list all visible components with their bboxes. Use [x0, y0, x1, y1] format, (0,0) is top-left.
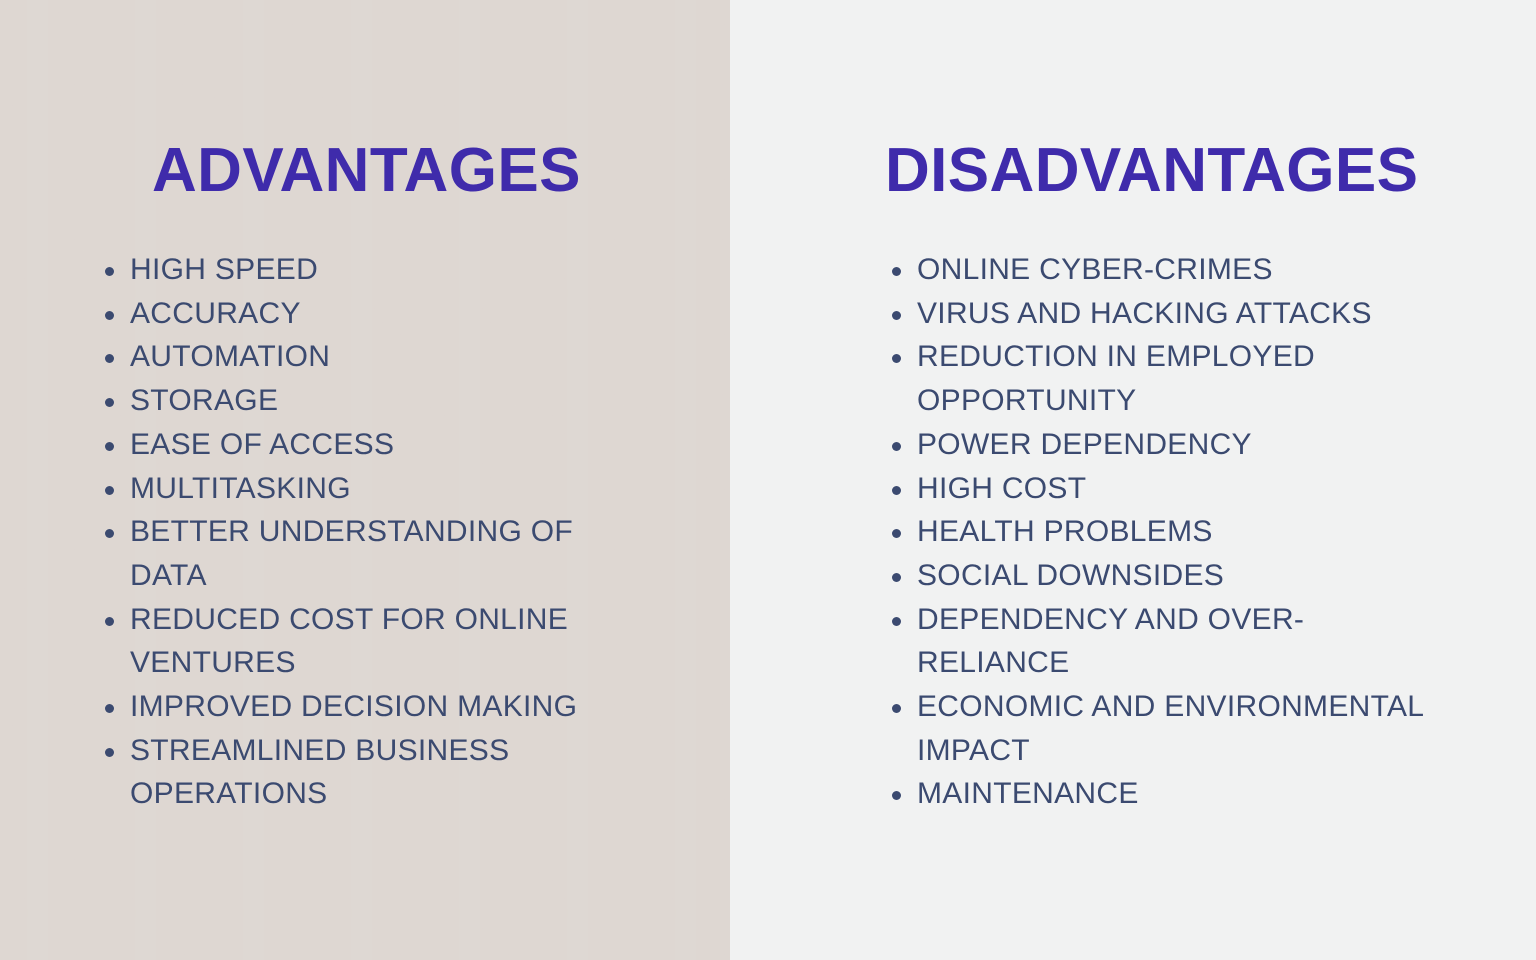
- list-item: STREAMLINED BUSINESS OPERATIONS: [98, 729, 638, 816]
- list-item: ONLINE CYBER-CRIMES: [885, 248, 1445, 292]
- disadvantages-heading: DISADVANTAGES: [885, 140, 1465, 202]
- advantages-content: ADVANTAGES HIGH SPEED ACCURACY AUTOMATIO…: [98, 140, 698, 816]
- disadvantages-panel: DISADVANTAGES ONLINE CYBER-CRIMES VIRUS …: [730, 0, 1536, 960]
- list-item: DEPENDENCY AND OVER-RELIANCE: [885, 598, 1445, 685]
- list-item: HIGH SPEED: [98, 248, 638, 292]
- list-item: REDUCED COST FOR ONLINE VENTURES: [98, 598, 638, 685]
- advantages-list: HIGH SPEED ACCURACY AUTOMATION STORAGE E…: [98, 248, 638, 816]
- list-item: HEALTH PROBLEMS: [885, 510, 1445, 554]
- list-item: EASE OF ACCESS: [98, 423, 638, 467]
- list-item: BETTER UNDERSTANDING OF DATA: [98, 510, 638, 597]
- list-item: MULTITASKING: [98, 467, 638, 511]
- list-item: STORAGE: [98, 379, 638, 423]
- disadvantages-content: DISADVANTAGES ONLINE CYBER-CRIMES VIRUS …: [885, 140, 1465, 816]
- advantages-panel: ADVANTAGES HIGH SPEED ACCURACY AUTOMATIO…: [0, 0, 730, 960]
- list-item: AUTOMATION: [98, 335, 638, 379]
- list-item: ACCURACY: [98, 292, 638, 336]
- list-item: VIRUS AND HACKING ATTACKS: [885, 292, 1445, 336]
- list-item: MAINTENANCE: [885, 772, 1445, 816]
- list-item: SOCIAL DOWNSIDES: [885, 554, 1445, 598]
- list-item: POWER DEPENDENCY: [885, 423, 1445, 467]
- list-item: HIGH COST: [885, 467, 1445, 511]
- list-item: REDUCTION IN EMPLOYED OPPORTUNITY: [885, 335, 1445, 422]
- list-item: IMPROVED DECISION MAKING: [98, 685, 638, 729]
- advantages-heading: ADVANTAGES: [152, 140, 698, 202]
- disadvantages-list: ONLINE CYBER-CRIMES VIRUS AND HACKING AT…: [885, 248, 1445, 816]
- comparison-slide: ADVANTAGES HIGH SPEED ACCURACY AUTOMATIO…: [0, 0, 1536, 960]
- list-item: ECONOMIC AND ENVIRONMENTAL IMPACT: [885, 685, 1445, 772]
